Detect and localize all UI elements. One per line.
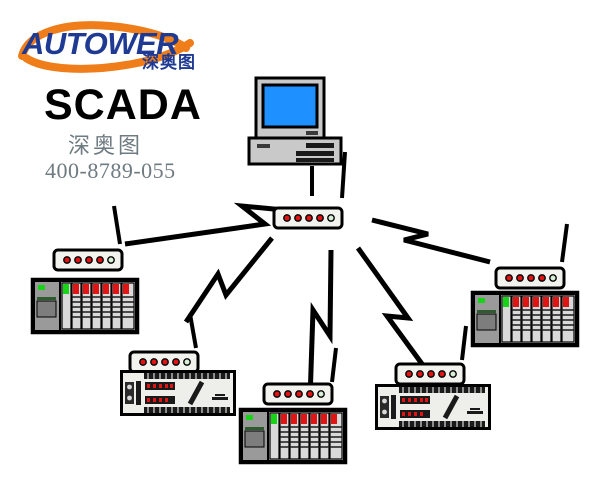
plc-module-led-red (93, 284, 99, 294)
plc-module-led-red (533, 297, 539, 307)
site-3-plc-compact[interactable] (118, 368, 236, 416)
plc-module-led-red (321, 414, 327, 424)
router-led-1 (506, 275, 512, 281)
site-5-plc-compact[interactable] (373, 382, 491, 430)
router-led-4 (173, 359, 179, 365)
case-drive-slot-3 (296, 158, 334, 162)
router-led-5 (550, 275, 556, 281)
compact-plc-port-2[interactable] (382, 410, 387, 415)
plc-module-led-red (331, 414, 337, 424)
compact-plc-brand-mark-2 (470, 408, 480, 410)
compact-plc-brand-mark (467, 411, 483, 414)
router-led-5 (450, 371, 456, 377)
router-led-3 (86, 257, 92, 263)
plc-module-led-red (113, 284, 119, 294)
monitor-power-button[interactable] (306, 131, 318, 135)
router-led-2 (75, 257, 81, 263)
wireless-link-site-3 (186, 238, 272, 322)
router-led-1 (64, 257, 70, 263)
router-led-1 (284, 215, 290, 221)
plc-cpu-panel (37, 301, 56, 317)
router-led-4 (97, 257, 103, 263)
wireless-link-site-5 (358, 248, 425, 368)
site-4-plc-rack[interactable] (238, 405, 348, 463)
compact-plc-port-2[interactable] (127, 396, 132, 401)
plc-cpu-run-led (38, 285, 45, 290)
case-drive-slot-2 (296, 151, 334, 156)
compact-plc-brand-mark (212, 397, 228, 400)
compact-plc-port-1[interactable] (382, 399, 387, 404)
plc-cpu-run-led (246, 415, 253, 420)
compact-plc-brand-mark-2 (215, 394, 225, 396)
case-drive-slot-1 (306, 143, 334, 148)
compact-plc-switch[interactable] (391, 395, 396, 419)
router-led-3 (428, 371, 434, 377)
plc-cpu-run-led (478, 298, 485, 303)
site-2-plc-rack[interactable] (470, 288, 580, 346)
terminal-strip-top (144, 373, 230, 379)
compact-plc-port-1[interactable] (127, 385, 132, 390)
router-led-3 (162, 359, 168, 365)
plc-module-led-red (83, 284, 89, 294)
router-led-2 (151, 359, 157, 365)
plc-module-led-red (123, 284, 129, 294)
terminal-strip-bottom (144, 407, 230, 413)
plc-module-led-red (543, 297, 549, 307)
router-led-3 (306, 215, 312, 221)
case-led (257, 144, 270, 148)
plc-module-led-red (563, 297, 569, 307)
router-led-5 (108, 257, 114, 263)
plc-module-led-green (63, 284, 69, 294)
router-led-2 (295, 215, 301, 221)
central-router[interactable] (272, 196, 350, 242)
router-led-4 (539, 275, 545, 281)
router-led-2 (517, 275, 523, 281)
router-led-1 (406, 371, 412, 377)
router-led-3 (296, 391, 302, 397)
router-led-5 (184, 359, 190, 365)
router-led-5 (328, 215, 334, 221)
router-led-1 (140, 359, 146, 365)
plc-cpu-label (37, 297, 56, 300)
plc-cpu-label (245, 427, 264, 430)
router-led-3 (528, 275, 534, 281)
router-led-2 (285, 391, 291, 397)
plc-module-led-red (311, 414, 317, 424)
scada-diagram-canvas: AUTOWER 深奥图 SCADA 深奥图 400-8789-055 (0, 0, 600, 480)
terminal-strip-bottom (399, 421, 485, 427)
router-led-4 (439, 371, 445, 377)
plc-module-led-green (271, 414, 277, 424)
site-1-plc-rack[interactable] (30, 275, 140, 333)
router-led-5 (318, 391, 324, 397)
plc-cpu-panel (245, 431, 264, 447)
wireless-link-site-2 (372, 220, 490, 262)
plc-module-led-red (291, 414, 297, 424)
terminal-strip-top (399, 387, 485, 393)
plc-module-led-red (281, 414, 287, 424)
plc-module-led-red (103, 284, 109, 294)
router-led-4 (307, 391, 313, 397)
compact-plc-switch[interactable] (136, 381, 141, 405)
plc-module-led-red (73, 284, 79, 294)
plc-cpu-panel (477, 314, 496, 330)
plc-module-led-red (553, 297, 559, 307)
monitor-screen (263, 85, 317, 127)
plc-module-led-green (503, 297, 509, 307)
router-led-1 (274, 391, 280, 397)
router-led-4 (317, 215, 323, 221)
plc-module-led-red (513, 297, 519, 307)
router-led-2 (417, 371, 423, 377)
plc-cpu-label (477, 310, 496, 313)
plc-module-led-red (523, 297, 529, 307)
plc-module-led-red (301, 414, 307, 424)
scada-host-workstation[interactable] (248, 76, 344, 168)
